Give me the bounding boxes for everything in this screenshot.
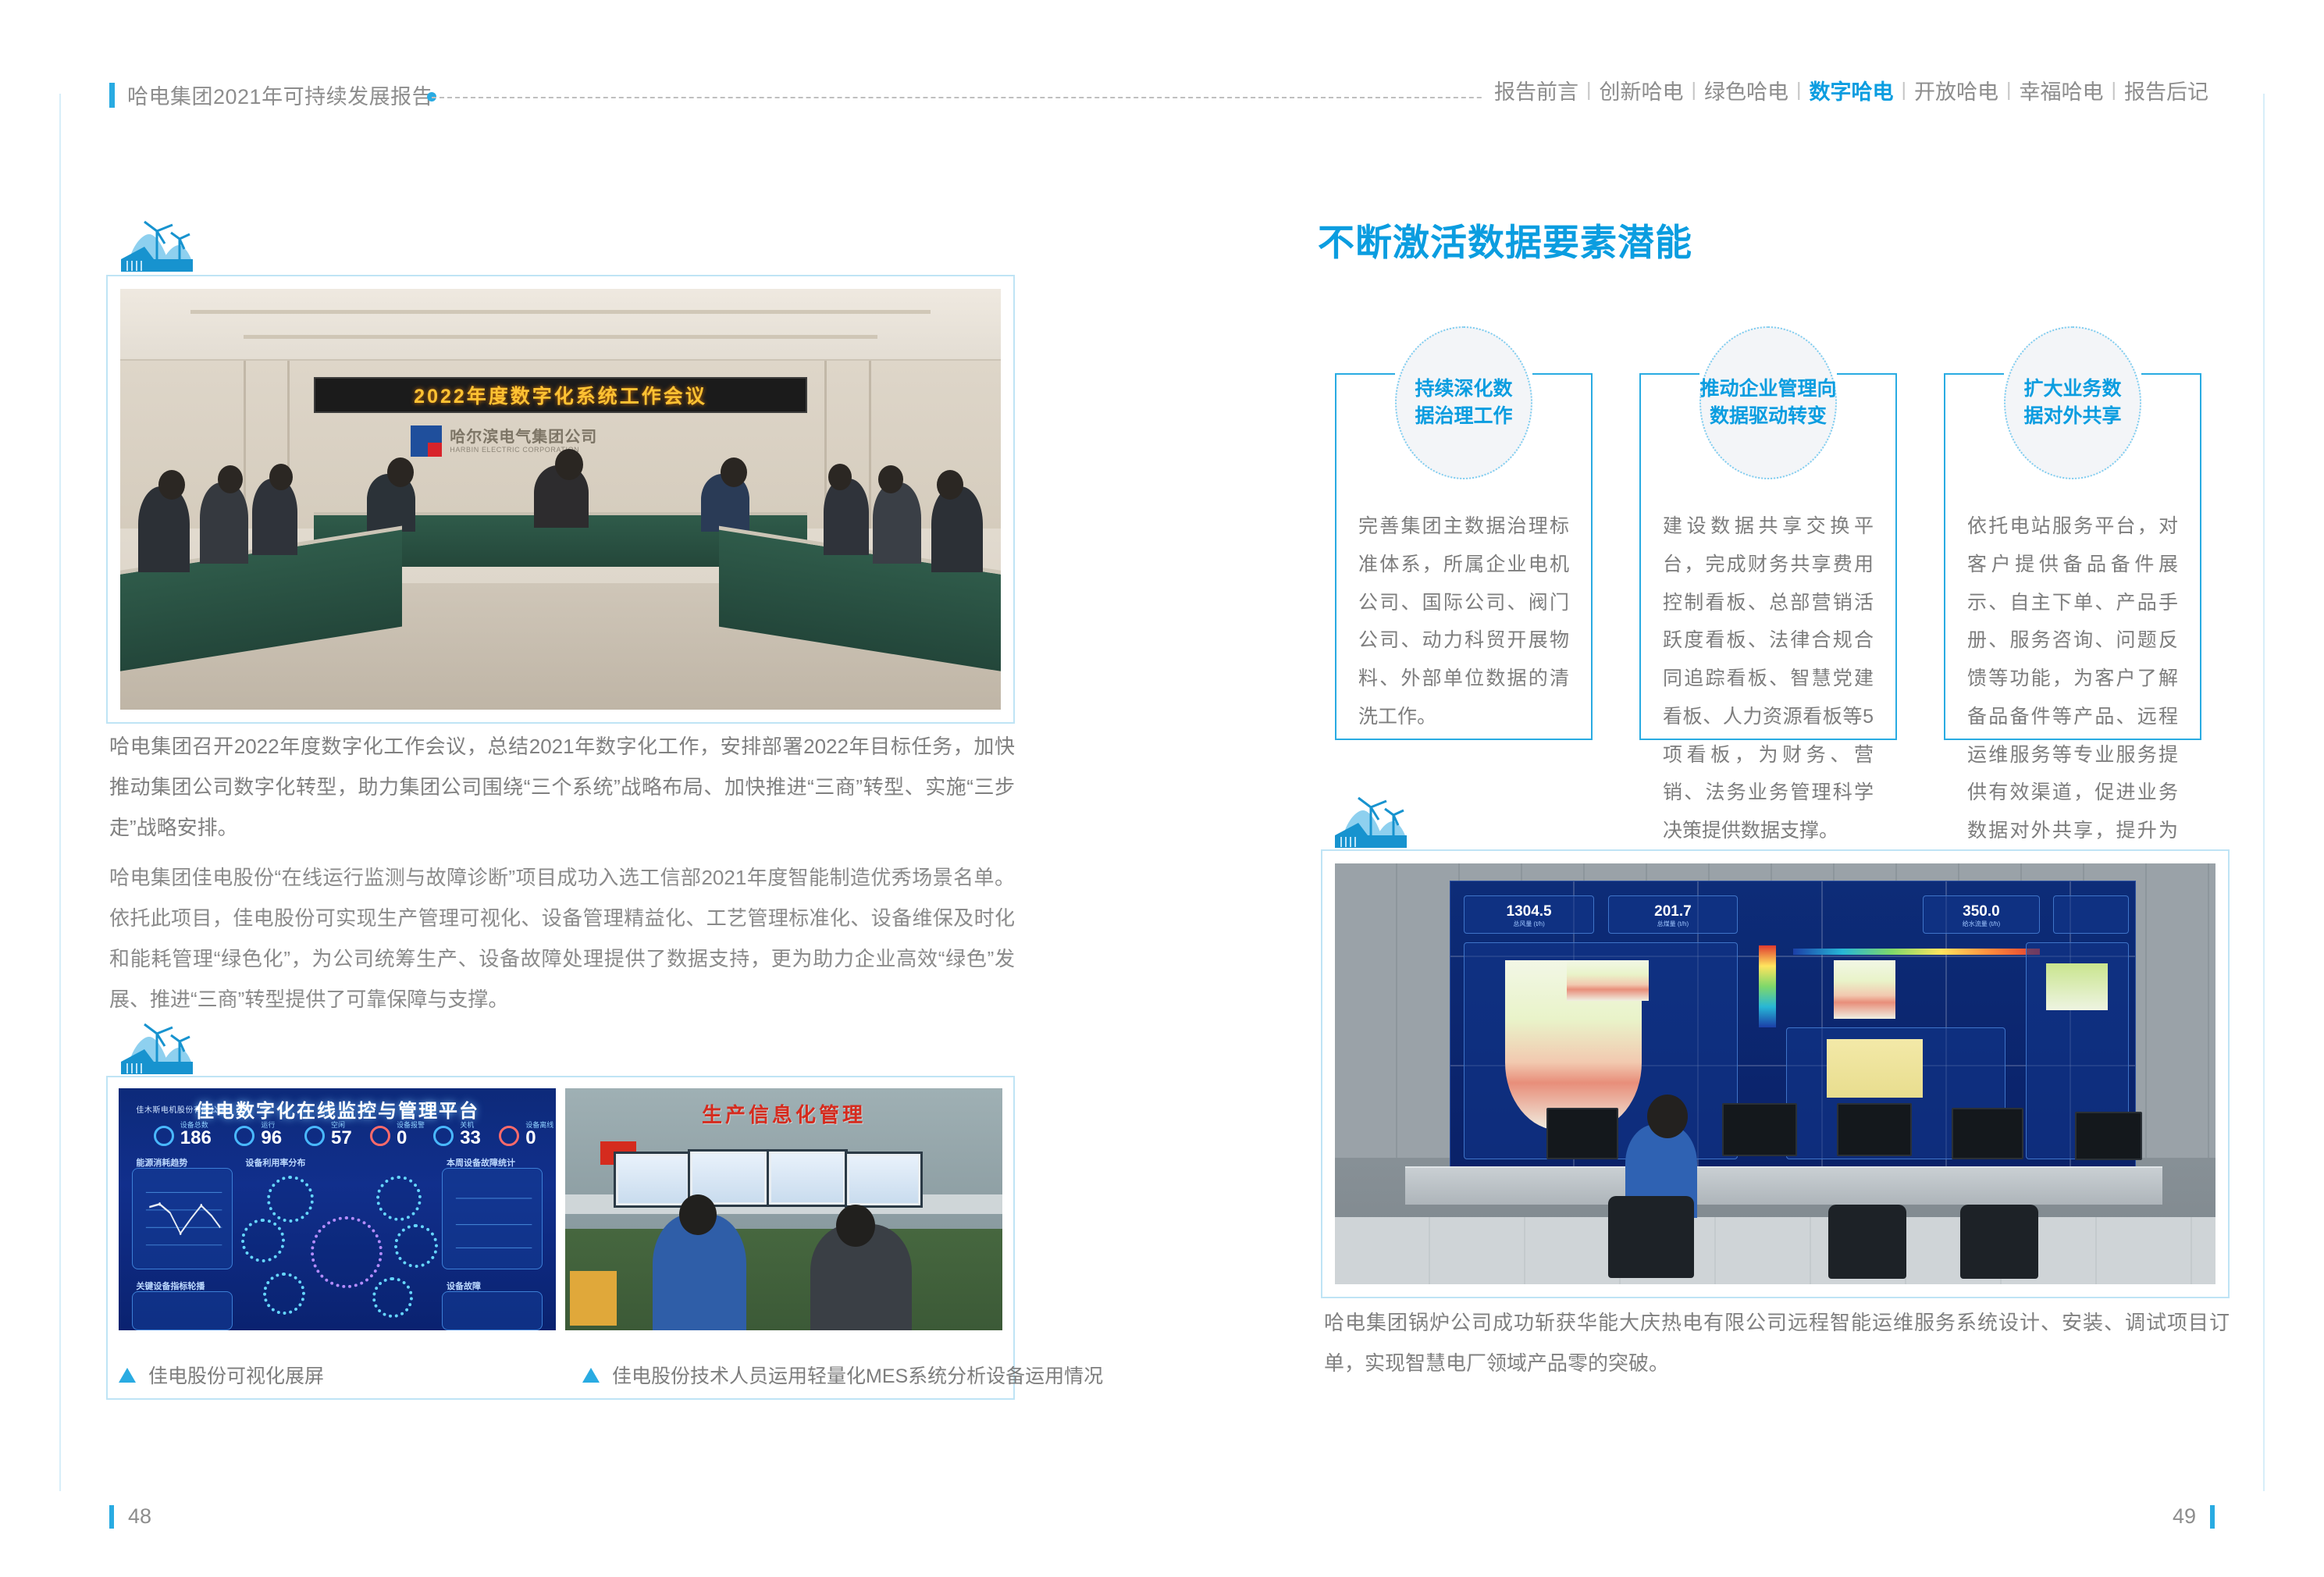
body-paragraph: 哈电集团佳电股份“在线运行监测与故障诊断”项目成功入选工信部2021年度智能制造… bbox=[109, 857, 1015, 1020]
boiler-heatmap-top bbox=[1567, 960, 1649, 1002]
page-number-left: 48 bbox=[109, 1504, 151, 1529]
control-room-photo: 1304.5 总风量 (t/h) 201.7 总煤量 (t/h) 350.0 给… bbox=[1335, 863, 2215, 1284]
desk-monitor bbox=[1952, 1108, 2023, 1159]
kpi-ring-icon bbox=[499, 1126, 519, 1146]
kpi-alarm: 设备报警 0 bbox=[370, 1120, 425, 1148]
heat-scale-bar bbox=[1793, 949, 2040, 955]
report-spread: 哈电集团2021年可持续发展报告 报告前言 | 创新哈电 | 绿色哈电 | 数字… bbox=[0, 0, 2324, 1577]
page-number-right: 49 bbox=[2173, 1504, 2215, 1529]
monitor bbox=[845, 1152, 923, 1208]
person bbox=[931, 486, 983, 572]
person-head bbox=[158, 470, 185, 500]
person bbox=[200, 482, 248, 564]
card-title-line2: 数据驱动转变 bbox=[1710, 403, 1827, 431]
page-accent-bar bbox=[2210, 1505, 2215, 1529]
info-card-2: 推动企业管理向 数据驱动转变 建设数据共享交换平台，完成财务共享费用控制看板、总… bbox=[1639, 326, 1897, 740]
readout-label: 总煤量 (t/h) bbox=[1609, 920, 1738, 928]
kpi-running: 运行 96 bbox=[234, 1120, 282, 1148]
card-title-line1: 持续深化数 bbox=[1415, 376, 1512, 404]
bottom-photos-frame: 佳木斯电机股份有限公司 佳电数字化在线监控与管理平台 设备总数 186 运行 9… bbox=[106, 1076, 1015, 1400]
gauge-zhuangpei bbox=[263, 1273, 305, 1315]
page-number-value: 49 bbox=[2173, 1504, 2196, 1529]
subcaption-workers: 佳电股份技术人员运用轻量化MES系统分析设备运用情况 bbox=[582, 1361, 1103, 1389]
right-edge-rule bbox=[2263, 94, 2265, 1491]
triangle-up-icon bbox=[119, 1368, 136, 1383]
kpi-value: 57 bbox=[331, 1127, 352, 1148]
subcaption-text: 佳电股份可视化展屏 bbox=[148, 1361, 324, 1389]
card-badge: 扩大业务数 据对外共享 bbox=[2004, 326, 2141, 479]
caption-meeting: 哈电集团召开2022年度数字化工作会议，总结2021年数字化工作，安排部署202… bbox=[109, 726, 1015, 848]
person-head bbox=[878, 465, 903, 493]
card-title-line2: 据治理工作 bbox=[1415, 403, 1512, 431]
kpi-value: 0 bbox=[397, 1127, 407, 1148]
readout-value: 1304.5 bbox=[1465, 903, 1593, 920]
equipment bbox=[570, 1271, 617, 1326]
readout-tile-2: 201.7 总煤量 (t/h) bbox=[1608, 895, 1739, 934]
operator-chair bbox=[1608, 1196, 1694, 1278]
chair bbox=[1960, 1205, 2038, 1279]
dashboard-section-utilization: 设备利用率分布 bbox=[245, 1156, 305, 1169]
worker-head bbox=[836, 1205, 875, 1247]
meeting-banner-text: 2022年度数字化系统工作会议 bbox=[414, 381, 707, 409]
right-heatmap bbox=[2046, 963, 2108, 1010]
nav-item-open[interactable]: 开放哈电 bbox=[1914, 75, 1998, 105]
logo-mark-icon bbox=[411, 425, 442, 457]
dashboard-photo: 佳木斯电机股份有限公司 佳电数字化在线监控与管理平台 设备总数 186 运行 9… bbox=[119, 1088, 556, 1330]
kpi-value: 186 bbox=[180, 1127, 212, 1148]
desk-monitor bbox=[1837, 1103, 1912, 1156]
nav-item-preface[interactable]: 报告前言 bbox=[1494, 75, 1578, 105]
page-number-value: 48 bbox=[128, 1504, 151, 1529]
nav-separator: | bbox=[1578, 79, 1600, 101]
person bbox=[252, 479, 297, 555]
page-accent-bar bbox=[109, 1505, 114, 1529]
device-fault-panel bbox=[442, 1291, 543, 1330]
monitor bbox=[767, 1149, 848, 1207]
readout-tile-3: 350.0 给水流量 (t/h) bbox=[1923, 895, 2039, 934]
nav-separator: | bbox=[1894, 79, 1915, 101]
kpi-value: 33 bbox=[460, 1127, 481, 1148]
ceiling bbox=[120, 289, 1001, 361]
left-edge-rule bbox=[59, 94, 61, 1491]
nav-item-innovation[interactable]: 创新哈电 bbox=[1600, 75, 1684, 105]
desk-monitor bbox=[2075, 1112, 2142, 1160]
card-title-line1: 推动企业管理向 bbox=[1700, 376, 1837, 404]
nav-separator: | bbox=[1998, 79, 2020, 101]
gauge-total-utilization bbox=[311, 1216, 383, 1288]
desk-monitor bbox=[1546, 1108, 1618, 1159]
section-heatmap-2 bbox=[1827, 1039, 1923, 1098]
kpi-offline: 设备离线 0 bbox=[499, 1120, 553, 1148]
ceiling-strip bbox=[244, 335, 877, 339]
readout-tile-4 bbox=[2053, 895, 2129, 934]
control-room-photo-frame: 1304.5 总风量 (t/h) 201.7 总煤量 (t/h) 350.0 给… bbox=[1321, 849, 2230, 1298]
meeting-photo: 2022年度数字化系统工作会议 哈尔滨电气集团公司 HARBIN ELECTRI… bbox=[120, 289, 1001, 710]
card-body-text: 建设数据共享交换平台，完成财务共享费用控制看板、总部营销活跃度看板、法律合规合同… bbox=[1663, 507, 1874, 850]
worker-head bbox=[679, 1194, 717, 1235]
running-head: 哈电集团2021年可持续发展报告 报告前言 | 创新哈电 | 绿色哈电 | 数字… bbox=[0, 75, 2324, 122]
person-head bbox=[555, 449, 583, 480]
weekly-fault-panel bbox=[442, 1168, 543, 1269]
kpi-shutdown: 关机 33 bbox=[433, 1120, 481, 1148]
logo-text-cn: 哈尔滨电气集团公司 bbox=[450, 429, 597, 446]
readout-label: 给水流量 (t/h) bbox=[1924, 920, 2038, 928]
console-desk bbox=[1405, 1166, 2162, 1205]
workers-photo: 生产信息化管理 bbox=[565, 1088, 1002, 1330]
heat-colorbar bbox=[1759, 945, 1777, 1027]
wall-panel-line bbox=[869, 361, 871, 529]
card-title-line1: 扩大业务数 bbox=[2023, 376, 2121, 404]
workshop-floor bbox=[565, 1229, 1002, 1330]
chapter-nav: 报告前言 | 创新哈电 | 绿色哈电 | 数字哈电 | 开放哈电 | 幸福哈电 … bbox=[1483, 75, 2208, 105]
dashboard-title: 佳电数字化在线监控与管理平台 bbox=[195, 1095, 479, 1123]
kpi-idle: 空闲 57 bbox=[304, 1120, 352, 1148]
meeting-photo-frame: 2022年度数字化系统工作会议 哈尔滨电气集团公司 HARBIN ELECTRI… bbox=[106, 275, 1015, 724]
readout-label: 总风量 (t/h) bbox=[1465, 920, 1593, 928]
nav-item-green[interactable]: 绿色哈电 bbox=[1704, 75, 1788, 105]
card-body-text: 完善集团主数据治理标准体系，所属企业电机公司、国际公司、阀门公司、动力科贸开展物… bbox=[1358, 507, 1569, 736]
kpi-ring-icon bbox=[304, 1126, 325, 1146]
person-head bbox=[721, 457, 747, 487]
control-room-floor bbox=[1335, 1217, 2215, 1284]
kpi-value: 96 bbox=[261, 1127, 282, 1148]
nav-item-digital[interactable]: 数字哈电 bbox=[1810, 75, 1894, 105]
card-badge: 推动企业管理向 数据驱动转变 bbox=[1699, 326, 1837, 479]
readout-value: 201.7 bbox=[1609, 903, 1738, 920]
meeting-banner: 2022年度数字化系统工作会议 bbox=[314, 377, 807, 413]
gauge-extra bbox=[372, 1277, 413, 1318]
kpi-ring-icon bbox=[154, 1126, 174, 1146]
nav-separator: | bbox=[1788, 79, 1810, 101]
dashboard-section-keyindex: 关键设备指标轮播 bbox=[136, 1280, 205, 1292]
workers-banner: 生产信息化管理 bbox=[600, 1098, 967, 1129]
ceiling-strip bbox=[190, 310, 931, 314]
dashboard-section-devicefault: 设备故障 bbox=[447, 1280, 481, 1292]
info-card-1: 持续深化数 据治理工作 完善集团主数据治理标准体系，所属企业电机公司、国际公司、… bbox=[1335, 326, 1593, 740]
readout-tile-1: 1304.5 总风量 (t/h) bbox=[1464, 895, 1594, 934]
chair bbox=[1828, 1205, 1906, 1279]
energy-trend-panel bbox=[132, 1168, 233, 1269]
gauge-jiagong bbox=[394, 1224, 438, 1268]
person-head bbox=[828, 464, 852, 490]
triangle-up-icon bbox=[582, 1368, 600, 1383]
kpi-value: 0 bbox=[525, 1127, 536, 1148]
section-heatmap-1 bbox=[1834, 960, 1895, 1019]
workers-banner-text: 生产信息化管理 bbox=[702, 1099, 866, 1128]
kpi-ring-icon bbox=[370, 1126, 390, 1146]
card-badge: 持续深化数 据治理工作 bbox=[1395, 326, 1532, 479]
person-head bbox=[269, 464, 293, 490]
nav-item-postscript[interactable]: 报告后记 bbox=[2124, 75, 2208, 105]
dashboard-section-faults: 本周设备故障统计 bbox=[447, 1156, 515, 1169]
person bbox=[873, 482, 921, 564]
dashboard-section-energy: 能源消耗趋势 bbox=[136, 1156, 187, 1169]
gauge-xiaoxing bbox=[376, 1176, 422, 1221]
desk-monitor bbox=[1722, 1103, 1797, 1156]
nav-separator: | bbox=[2104, 79, 2125, 101]
gauge-daijian bbox=[267, 1176, 314, 1223]
subcaption-text: 佳电股份技术人员运用轻量化MES系统分析设备运用情况 bbox=[612, 1361, 1103, 1389]
person-head bbox=[937, 470, 963, 500]
running-head-title-group: 哈电集团2021年可持续发展报告 bbox=[109, 80, 433, 110]
person bbox=[824, 479, 869, 555]
title-accent-bar bbox=[109, 83, 115, 108]
section-heading: 不断激活数据要素潜能 bbox=[1318, 212, 1692, 266]
gauge-diangong bbox=[241, 1219, 285, 1262]
card-title-line2: 据对外共享 bbox=[2023, 403, 2121, 431]
info-card-3: 扩大业务数 据对外共享 依托电站服务平台，对客户提供备品备件展示、自主下单、产品… bbox=[1944, 326, 2201, 740]
person bbox=[138, 486, 190, 572]
report-title: 哈电集团2021年可持续发展报告 bbox=[127, 80, 433, 110]
kpi-total-devices: 设备总数 186 bbox=[154, 1120, 212, 1148]
kpi-ring-icon bbox=[433, 1126, 454, 1146]
monitor bbox=[614, 1152, 692, 1208]
nav-item-happy[interactable]: 幸福哈电 bbox=[2020, 75, 2104, 105]
kpi-ring-icon bbox=[234, 1126, 254, 1146]
readout-value: 350.0 bbox=[1924, 903, 2038, 920]
caption-control-room: 哈电集团锅炉公司成功斩获华能大庆热电有限公司远程智能运维服务系统设计、安装、调试… bbox=[1324, 1302, 2230, 1383]
person-head bbox=[387, 457, 414, 487]
subcaption-dashboard: 佳电股份可视化展屏 bbox=[119, 1361, 324, 1389]
nav-separator: | bbox=[1684, 79, 1705, 101]
key-index-panel bbox=[132, 1291, 233, 1330]
